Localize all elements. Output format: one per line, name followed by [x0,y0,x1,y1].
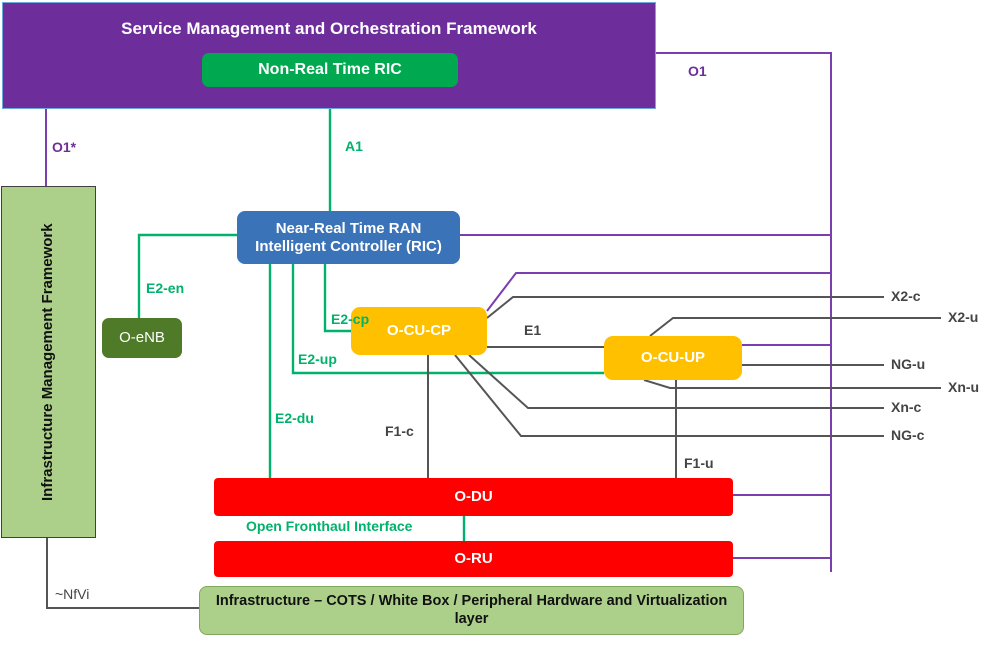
o-ru-label: O-RU [454,550,492,568]
x2-c-line [487,297,884,318]
imf-label: Infrastructure Management Framework [38,197,58,527]
near-rt-ric-label: Near-Real Time RAN Intelligent Controlle… [255,220,442,255]
e2-en-label: E2-en [146,280,184,296]
o-cu-up-box[interactable]: O-CU-UP [604,336,742,380]
o-ru-box[interactable]: O-RU [214,541,733,577]
open-fronthaul-label: Open Fronthaul Interface [246,518,412,534]
xn-c-label: Xn-c [891,399,921,415]
xn-u-label: Xn-u [948,379,979,395]
x2-c-label: X2-c [891,288,921,304]
o-enb-box[interactable]: O-eNB [102,318,182,358]
o1-star-label: O1* [52,139,76,155]
oran-architecture-diagram: Service Management and Orchestration Fra… [0,0,1000,648]
near-rt-ric-line-2: Intelligent Controller (RIC) [255,238,442,255]
o1-label: O1 [688,63,707,79]
ng-c-label: NG-c [891,427,924,443]
e2-up-label: E2-up [298,351,337,367]
o-cu-cp-box[interactable]: O-CU-CP [351,307,487,355]
e2-en-line [139,235,237,318]
near-rt-ric-line-1: Near-Real Time RAN [276,220,422,237]
o-du-box[interactable]: O-DU [214,478,733,516]
infrastructure-box[interactable]: Infrastructure – COTS / White Box / Peri… [199,586,744,635]
near-rt-ric-box[interactable]: Near-Real Time RAN Intelligent Controlle… [237,211,460,264]
o-enb-label: O-eNB [119,329,165,347]
f1-u-label: F1-u [684,455,714,471]
infrastructure-management-framework-box[interactable]: Infrastructure Management Framework VIM [1,186,96,538]
o-cu-up-label: O-CU-UP [641,349,705,367]
o-du-label: O-DU [454,488,492,506]
e2-cp-label: E2-cp [331,311,369,327]
e1-label: E1 [524,322,541,338]
f1-c-label: F1-c [385,423,414,439]
o1-branch-cucp [487,273,831,311]
e2-du-label: E2-du [275,410,314,426]
x2-u-line [650,318,941,336]
infrastructure-label: Infrastructure – COTS / White Box / Peri… [214,593,729,627]
x2-u-label: X2-u [948,309,978,325]
non-rt-ric-box[interactable]: Non-Real Time RIC [202,53,458,87]
a1-label: A1 [345,138,363,154]
ng-u-label: NG-u [891,356,925,372]
nfvi-label: ~NfVi [55,586,89,602]
non-rt-ric-label: Non-Real Time RIC [258,61,402,80]
smo-label: Service Management and Orchestration Fra… [121,19,537,39]
o-cu-cp-label: O-CU-CP [387,322,451,340]
xn-u-line [644,380,941,388]
